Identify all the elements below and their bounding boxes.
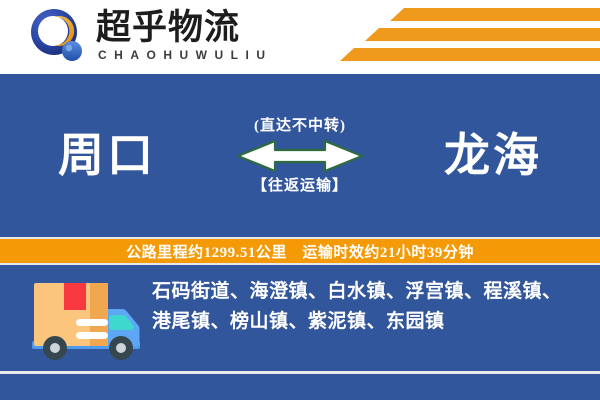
brand-name-en: CHAOHUWULIU (96, 47, 273, 63)
poster-header: 超乎物流 CHAOHUWULIU (0, 0, 600, 74)
round-trip-note: 【往返运输】 (200, 177, 400, 195)
coverage-area-panel: 石码街道、海澄镇、白水镇、浮宫镇、程溪镇、港尾镇、榜山镇、紫泥镇、东园镇 (0, 265, 600, 372)
origin-city: 周口 (58, 130, 156, 182)
brand-logo[interactable]: 超乎物流 CHAOHUWULIU (28, 7, 273, 67)
destination-city: 龙海 (444, 130, 542, 182)
coverage-area-text: 石码街道、海澄镇、白水镇、浮宫镇、程溪镇、港尾镇、榜山镇、紫泥镇、东园镇 (150, 265, 600, 337)
brand-text-block: 超乎物流 CHAOHUWULIU (96, 7, 273, 63)
truck-illustration (0, 265, 150, 368)
stripe-3 (340, 48, 600, 61)
delivery-truck-icon (28, 275, 146, 363)
logistics-route-poster: 超乎物流 CHAOHUWULIU 周口 (直达不中转) 【往返运输】 龙海 公路… (0, 0, 600, 400)
direct-service-note: (直达不中转) (200, 117, 400, 135)
stripe-1 (390, 8, 600, 21)
circle-crescent-logo-icon (28, 7, 88, 67)
decorative-stripes (340, 8, 600, 66)
route-arrow-block: (直达不中转) 【往返运输】 (200, 117, 400, 195)
stripe-2 (365, 28, 600, 41)
distance-duration-bar: 公路里程约1299.51公里 运输时效约21小时39分钟 (0, 237, 600, 265)
brand-name-cn: 超乎物流 (96, 9, 273, 47)
distance-duration-text: 公路里程约1299.51公里 运输时效约21小时39分钟 (126, 241, 474, 262)
route-panel: 周口 (直达不中转) 【往返运输】 龙海 (0, 74, 600, 237)
double-headed-arrow-icon (235, 138, 365, 174)
footer-strip (0, 374, 600, 400)
